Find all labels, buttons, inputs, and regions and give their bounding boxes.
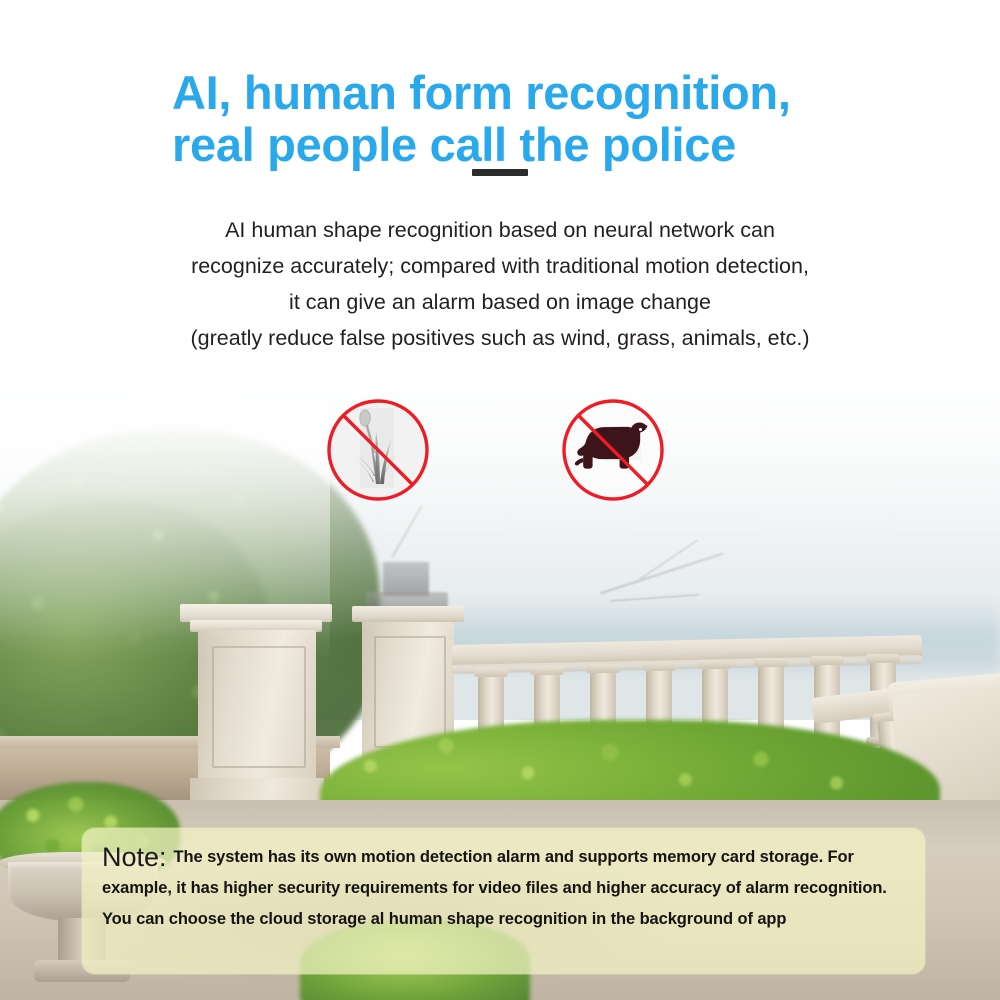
note-box: Note: The system has its own motion dete… — [82, 828, 925, 974]
content-layer: AI, human form recognition, real people … — [0, 0, 1000, 1000]
note-inner: Note: The system has its own motion dete… — [102, 842, 907, 935]
page-headline: AI, human form recognition, real people … — [172, 67, 892, 171]
no-dog-badge — [559, 396, 667, 504]
headline-divider — [472, 169, 528, 176]
prohibition-badges — [0, 396, 1000, 506]
no-grass-badge — [324, 396, 432, 504]
no-grass-icon — [324, 396, 432, 504]
no-dog-icon — [559, 396, 667, 504]
note-label: Note: — [102, 842, 167, 873]
page-subtitle: AI human shape recognition based on neur… — [100, 212, 900, 356]
note-text: The system has its own motion detection … — [102, 848, 887, 928]
promo-page: AI, human form recognition, real people … — [0, 0, 1000, 1000]
